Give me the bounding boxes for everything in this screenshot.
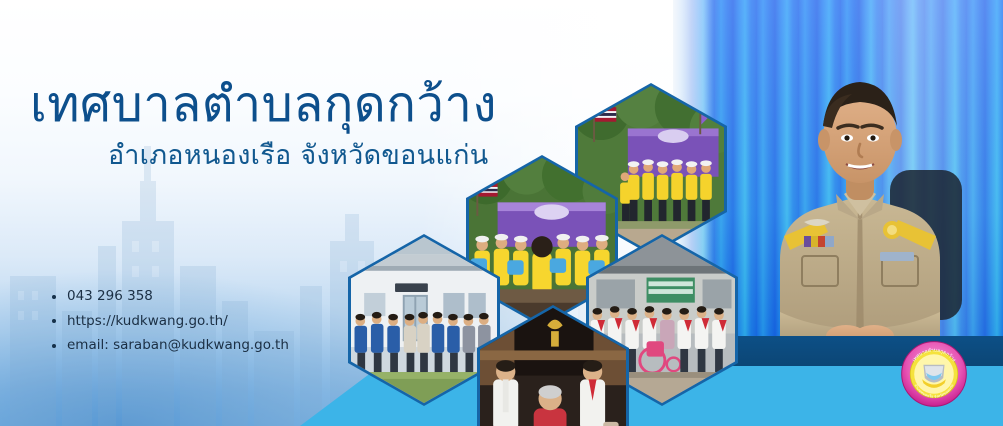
municipality-seal[interactable]: เทศบาลตำบลกุดกว้าง อำเภอหนองเรือ จังหวัด… (901, 341, 967, 407)
contact-item-phone: 043 296 358 (52, 290, 289, 304)
title-block: เทศบาลตำบลกุดกว้าง อำเภอหนองเรือ จังหวัด… (30, 78, 670, 173)
contact-item-email[interactable]: email: saraban@kudkwang.go.th (52, 339, 289, 353)
mayor-portrait (740, 60, 980, 370)
contact-email-text[interactable]: email: saraban@kudkwang.go.th (67, 339, 289, 353)
bullet-icon (52, 319, 56, 323)
bullet-icon (52, 344, 56, 348)
contact-website-text[interactable]: https://kudkwang.go.th/ (67, 315, 228, 329)
contact-phone-text: 043 296 358 (67, 290, 153, 304)
contact-item-website[interactable]: https://kudkwang.go.th/ (52, 315, 289, 329)
page-title: เทศบาลตำบลกุดกว้าง (30, 78, 670, 133)
bullet-icon (52, 295, 56, 299)
page-subtitle: อำเภอหนองเรือ จังหวัดขอนแก่น (108, 139, 670, 173)
municipality-banner: เทศบาลตำบลกุดกว้าง อำเภอหนองเรือ จังหวัด… (0, 0, 1003, 426)
contact-list: 043 296 358 https://kudkwang.go.th/ emai… (52, 290, 289, 364)
